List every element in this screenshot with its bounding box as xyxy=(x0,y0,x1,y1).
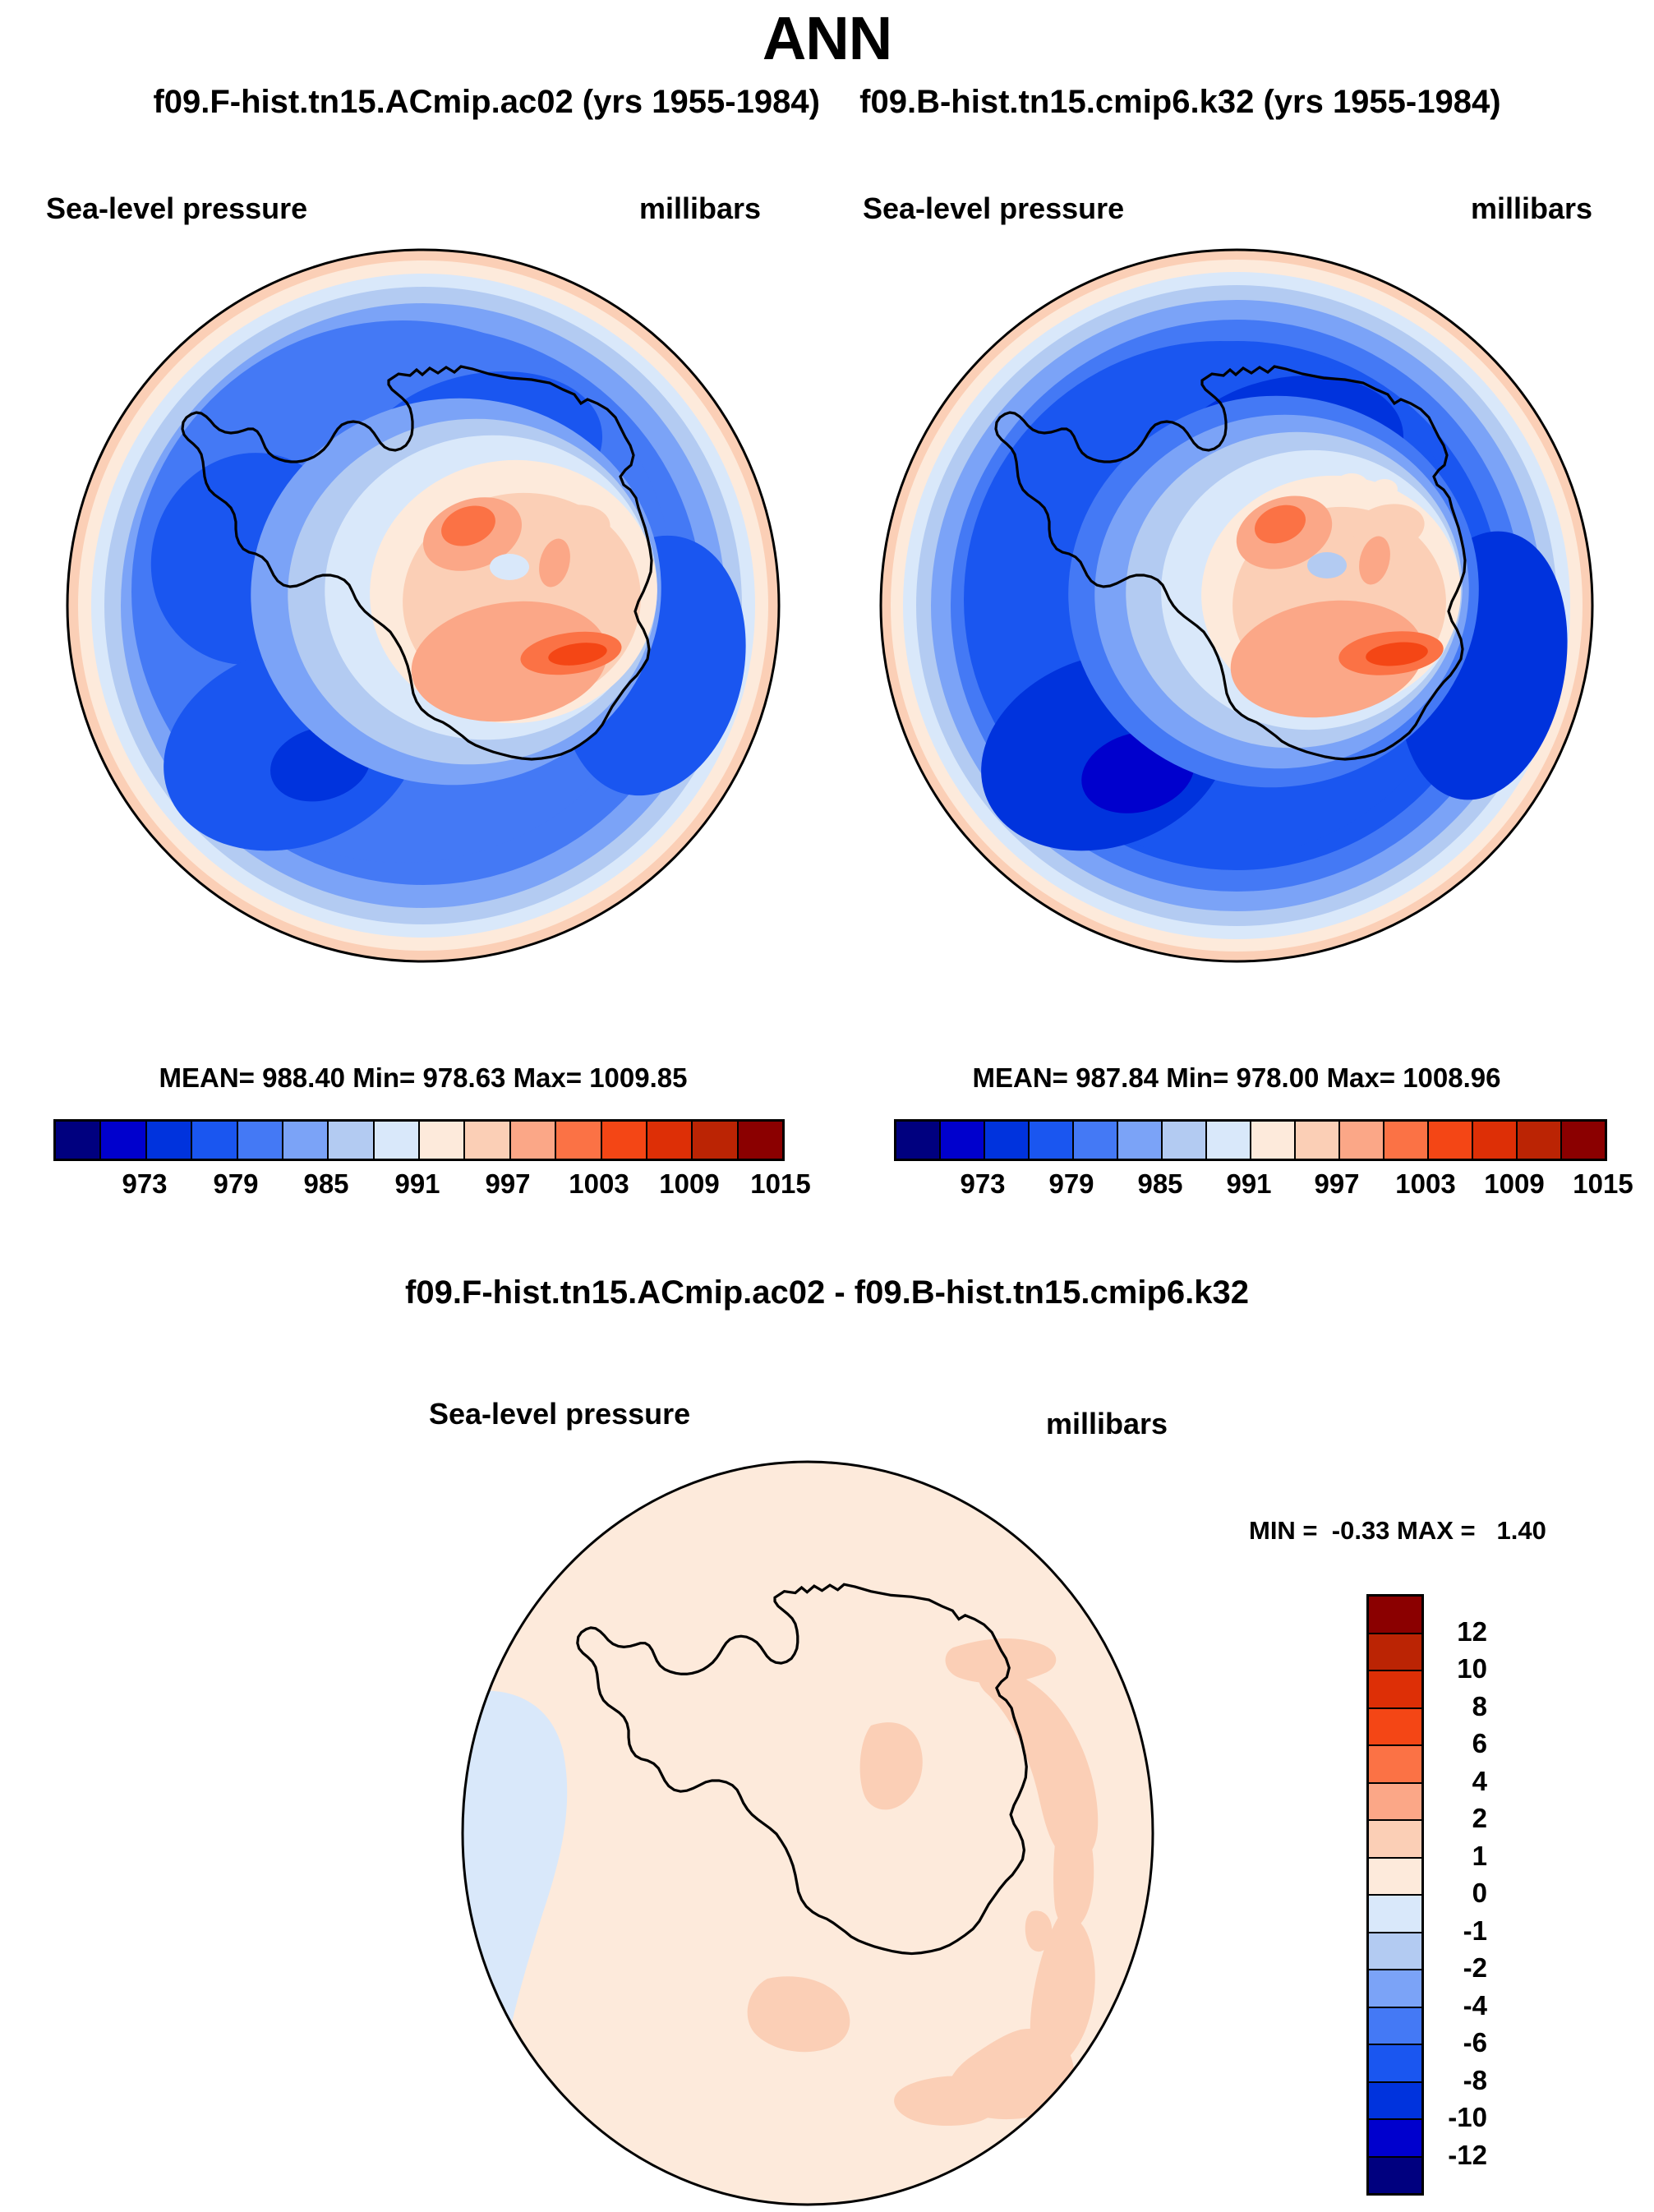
tick-label: 985 xyxy=(1137,1168,1182,1200)
tick-label: 973 xyxy=(960,1168,1005,1200)
colorbar-cell xyxy=(1518,1122,1562,1159)
tick-label: -4 xyxy=(1463,1990,1487,2021)
tick-label: 1003 xyxy=(569,1168,629,1200)
tick-label: -10 xyxy=(1448,2102,1487,2133)
tick-label: 997 xyxy=(485,1168,530,1200)
tick-label: 979 xyxy=(1048,1168,1094,1200)
colorbar-cell xyxy=(896,1122,941,1159)
colorbar-cell xyxy=(56,1122,101,1159)
colorbar-cell xyxy=(985,1122,1030,1159)
colorbar-cell xyxy=(420,1122,465,1159)
tick-label: 1009 xyxy=(1484,1168,1544,1200)
colorbar-cell xyxy=(238,1122,283,1159)
tick-label: 12 xyxy=(1457,1616,1487,1647)
difference-polar-map xyxy=(411,1454,1265,2212)
colorbar-cell xyxy=(192,1122,237,1159)
right-panel-stats: MEAN= 987.84 Min= 978.00 Max= 1008.96 xyxy=(859,1062,1615,1094)
colorbar-cell xyxy=(147,1122,192,1159)
colorbar-cell xyxy=(283,1122,329,1159)
diff-min-max-label: MIN = -0.33 MAX = 1.40 xyxy=(1249,1516,1546,1546)
tick-label: 1015 xyxy=(1573,1168,1633,1200)
tick-label: 4 xyxy=(1472,1766,1487,1797)
colorbar-cell xyxy=(511,1122,556,1159)
colorbar-cell xyxy=(1340,1122,1384,1159)
colorbar-cell xyxy=(1074,1122,1118,1159)
tick-label: 997 xyxy=(1314,1168,1359,1200)
colorbar-cell xyxy=(1369,1821,1421,1859)
case-name-left: f09.F-hist.tn15.ACmip.ac02 (yrs 1955-198… xyxy=(153,84,819,121)
colorbar-cell xyxy=(1369,1970,1421,2008)
page-title: ANN xyxy=(0,3,1654,73)
tick-label: 991 xyxy=(1226,1168,1271,1200)
colorbar-cell xyxy=(1369,1859,1421,1896)
colorbar-cell xyxy=(1030,1122,1074,1159)
case-name-right: f09.B-hist.tn15.cmip6.k32 (yrs 1955-1984… xyxy=(859,84,1500,121)
colorbar-cell xyxy=(602,1122,647,1159)
tick-label: 1009 xyxy=(659,1168,719,1200)
colorbar-cell xyxy=(1473,1122,1518,1159)
colorbar-cell xyxy=(1369,1746,1421,1784)
colorbar-cell xyxy=(1369,1784,1421,1822)
colorbar-cell xyxy=(1118,1122,1163,1159)
colorbar-cell xyxy=(739,1122,782,1159)
tick-label: -6 xyxy=(1463,2027,1487,2058)
colorbar-cell xyxy=(1369,1896,1421,1933)
left-colorbar[interactable] xyxy=(53,1119,785,1161)
colorbar-cell xyxy=(1369,2008,1421,2046)
colorbar-cell xyxy=(1369,2045,1421,2083)
colorbar-cell xyxy=(1369,2120,1421,2158)
colorbar-cell xyxy=(375,1122,420,1159)
difference-title: f09.F-hist.tn15.ACmip.ac02 - f09.B-hist.… xyxy=(0,1274,1654,1311)
colorbar-cell xyxy=(1429,1122,1473,1159)
difference-colorbar-tick-labels: 12 10 8 6 4 2 1 0 -1 -2 -4 -6 -8 -10 -12 xyxy=(1431,1594,1487,2196)
colorbar-cell xyxy=(1163,1122,1207,1159)
colorbar-cell xyxy=(1384,1122,1429,1159)
tick-label: -12 xyxy=(1448,2140,1487,2171)
right-colorbar[interactable] xyxy=(894,1119,1607,1161)
tick-label: -2 xyxy=(1463,1952,1487,1984)
colorbar-cell xyxy=(1562,1122,1605,1159)
right-colorbar-tick-labels: 973 979 985 991 997 1003 1009 1015 xyxy=(894,1168,1609,1205)
tick-label: 1 xyxy=(1472,1841,1487,1872)
colorbar-cell xyxy=(556,1122,601,1159)
tick-label: 1015 xyxy=(750,1168,810,1200)
left-polar-map xyxy=(45,205,801,1011)
colorbar-cell xyxy=(1369,1634,1421,1672)
difference-colorbar[interactable] xyxy=(1366,1594,1424,2196)
colorbar-cell xyxy=(1369,1597,1421,1634)
tick-label: 2 xyxy=(1472,1803,1487,1834)
colorbar-cell xyxy=(647,1122,693,1159)
tick-label: -1 xyxy=(1463,1915,1487,1947)
colorbar-cell xyxy=(1296,1122,1340,1159)
left-panel-stats: MEAN= 988.40 Min= 978.63 Max= 1009.85 xyxy=(45,1062,801,1094)
tick-label: 973 xyxy=(122,1168,167,1200)
tick-label: 979 xyxy=(213,1168,258,1200)
tick-label: 991 xyxy=(394,1168,440,1200)
colorbar-cell xyxy=(1369,1933,1421,1971)
diff-panel-units-label: millibars xyxy=(1046,1407,1168,1441)
colorbar-cell xyxy=(693,1122,738,1159)
colorbar-cell xyxy=(1369,2158,1421,2194)
tick-label: 8 xyxy=(1472,1691,1487,1722)
diff-panel-variable-label: Sea-level pressure xyxy=(429,1397,690,1431)
tick-label: 1003 xyxy=(1395,1168,1455,1200)
colorbar-cell xyxy=(465,1122,510,1159)
tick-label: 10 xyxy=(1457,1653,1487,1684)
tick-label: 6 xyxy=(1472,1728,1487,1759)
tick-label: -8 xyxy=(1463,2065,1487,2096)
colorbar-cell xyxy=(1369,2083,1421,2121)
colorbar-cell xyxy=(1369,1709,1421,1747)
colorbar-cell xyxy=(1251,1122,1296,1159)
colorbar-cell xyxy=(101,1122,146,1159)
colorbar-cell xyxy=(941,1122,985,1159)
left-colorbar-tick-labels: 973 979 985 991 997 1003 1009 1015 xyxy=(53,1168,785,1205)
colorbar-cell xyxy=(329,1122,374,1159)
right-polar-map xyxy=(859,205,1615,1011)
tick-label: 985 xyxy=(303,1168,348,1200)
case-names-line: f09.F-hist.tn15.ACmip.ac02 (yrs 1955-198… xyxy=(0,84,1654,121)
colorbar-cell xyxy=(1369,1671,1421,1709)
tick-label: 0 xyxy=(1472,1878,1487,1909)
colorbar-cell xyxy=(1207,1122,1251,1159)
